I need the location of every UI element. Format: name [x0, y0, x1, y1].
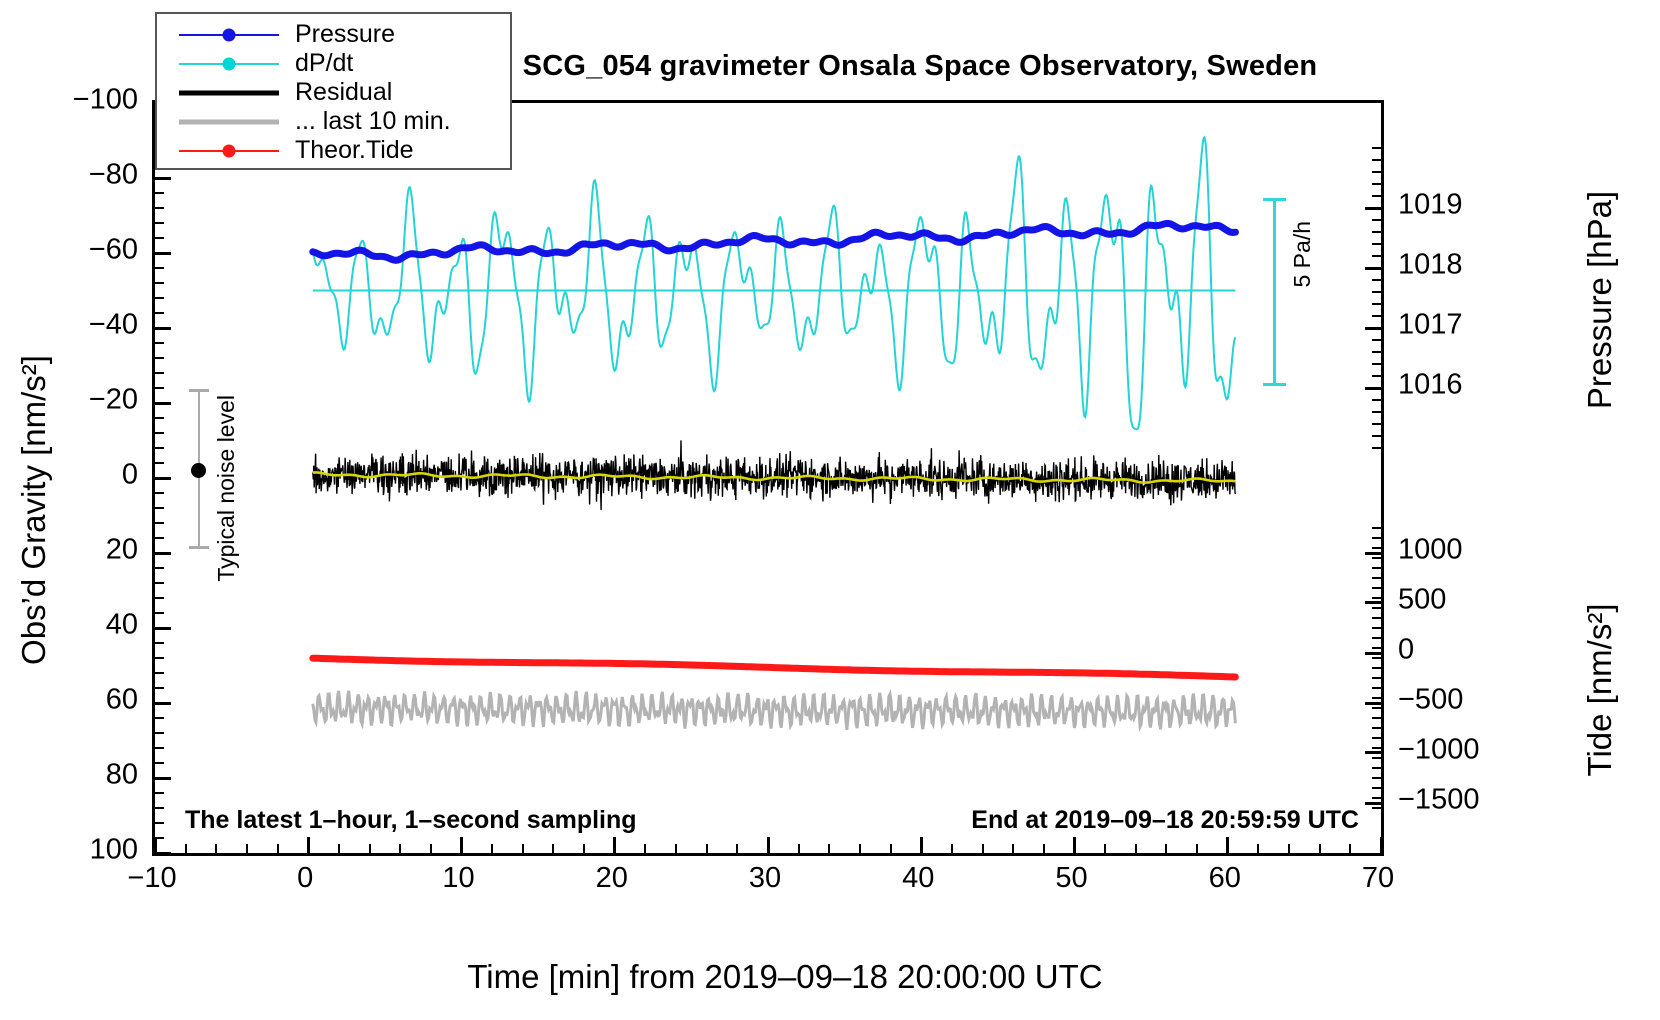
legend: Pressure dP/dt Residual ... last 10 min.… — [155, 12, 512, 170]
legend-item-theor-tide: Theor.Tide — [179, 136, 510, 165]
legend-item-residual: Residual — [179, 78, 510, 107]
x-tick-label: 50 — [1055, 862, 1087, 895]
pressure-tick-label: 1019 — [1398, 189, 1463, 222]
tide-tick-label: −1000 — [1398, 733, 1479, 766]
y-tick-label: 40 — [106, 609, 138, 642]
pressure-tick-label: 1018 — [1398, 249, 1463, 282]
y-tick-label: 80 — [106, 759, 138, 792]
x-tick-label: −10 — [127, 862, 176, 895]
y-tick-label: 60 — [106, 684, 138, 717]
legend-key-pressure — [179, 26, 279, 44]
legend-marker-pressure — [223, 28, 236, 41]
y-axis-title-pressure: Pressure [hPa] — [1581, 191, 1619, 409]
legend-marker-theor-tide — [223, 144, 236, 157]
x-tick-label: 40 — [902, 862, 934, 895]
tide-tick-label: 1000 — [1398, 534, 1463, 567]
y-tick-label: −60 — [89, 234, 138, 267]
chart-title: SCG_054 gravimeter Onsala Space Observat… — [430, 50, 1410, 83]
x-tick-label: 0 — [297, 862, 313, 895]
legend-key-dpdt — [179, 55, 279, 73]
x-tick-label: 20 — [596, 862, 628, 895]
y-tick-label: −20 — [89, 384, 138, 417]
legend-item-dpdt: dP/dt — [179, 49, 510, 78]
pressure-tick-label: 1016 — [1398, 369, 1463, 402]
y-tick-label: 0 — [122, 459, 138, 492]
y-axis-title-tide: Tide [nm/s²] — [1581, 604, 1619, 777]
y-tick-label: −40 — [89, 309, 138, 342]
tide-tick-label: 0 — [1398, 634, 1414, 667]
axis-tick-labels: 100806040200−20−40−60−80−100101610171018… — [152, 100, 1384, 856]
y-tick-label: 20 — [106, 534, 138, 567]
legend-line-residual — [179, 90, 279, 95]
legend-key-theor-tide — [179, 142, 279, 160]
x-tick-label: 60 — [1209, 862, 1241, 895]
x-tick-label: 30 — [749, 862, 781, 895]
legend-label-dpdt: dP/dt — [295, 49, 353, 78]
legend-item-pressure: Pressure — [179, 20, 510, 49]
legend-label-last10: ... last 10 min. — [295, 107, 451, 136]
x-tick-label: 70 — [1362, 862, 1394, 895]
tide-tick-label: −500 — [1398, 684, 1463, 717]
legend-label-theor-tide: Theor.Tide — [295, 136, 414, 165]
legend-key-residual — [179, 84, 279, 102]
tide-tick-label: 500 — [1398, 583, 1446, 616]
y-tick-label: −100 — [73, 84, 138, 117]
x-tick-label: 10 — [442, 862, 474, 895]
legend-label-pressure: Pressure — [295, 20, 395, 49]
legend-item-last10: ... last 10 min. — [179, 107, 510, 136]
x-axis-title: Time [min] from 2019–09–18 20:00:00 UTC — [0, 958, 1570, 996]
legend-marker-dpdt — [223, 57, 236, 70]
legend-key-last10 — [179, 113, 279, 131]
y-axis-title-gravity: Obs’d Gravity [nm/s²] — [15, 355, 53, 665]
tide-tick-label: −1500 — [1398, 784, 1479, 817]
legend-label-residual: Residual — [295, 78, 392, 107]
y-tick-label: −80 — [89, 159, 138, 192]
legend-line-last10 — [179, 119, 279, 124]
pressure-tick-label: 1017 — [1398, 309, 1463, 342]
